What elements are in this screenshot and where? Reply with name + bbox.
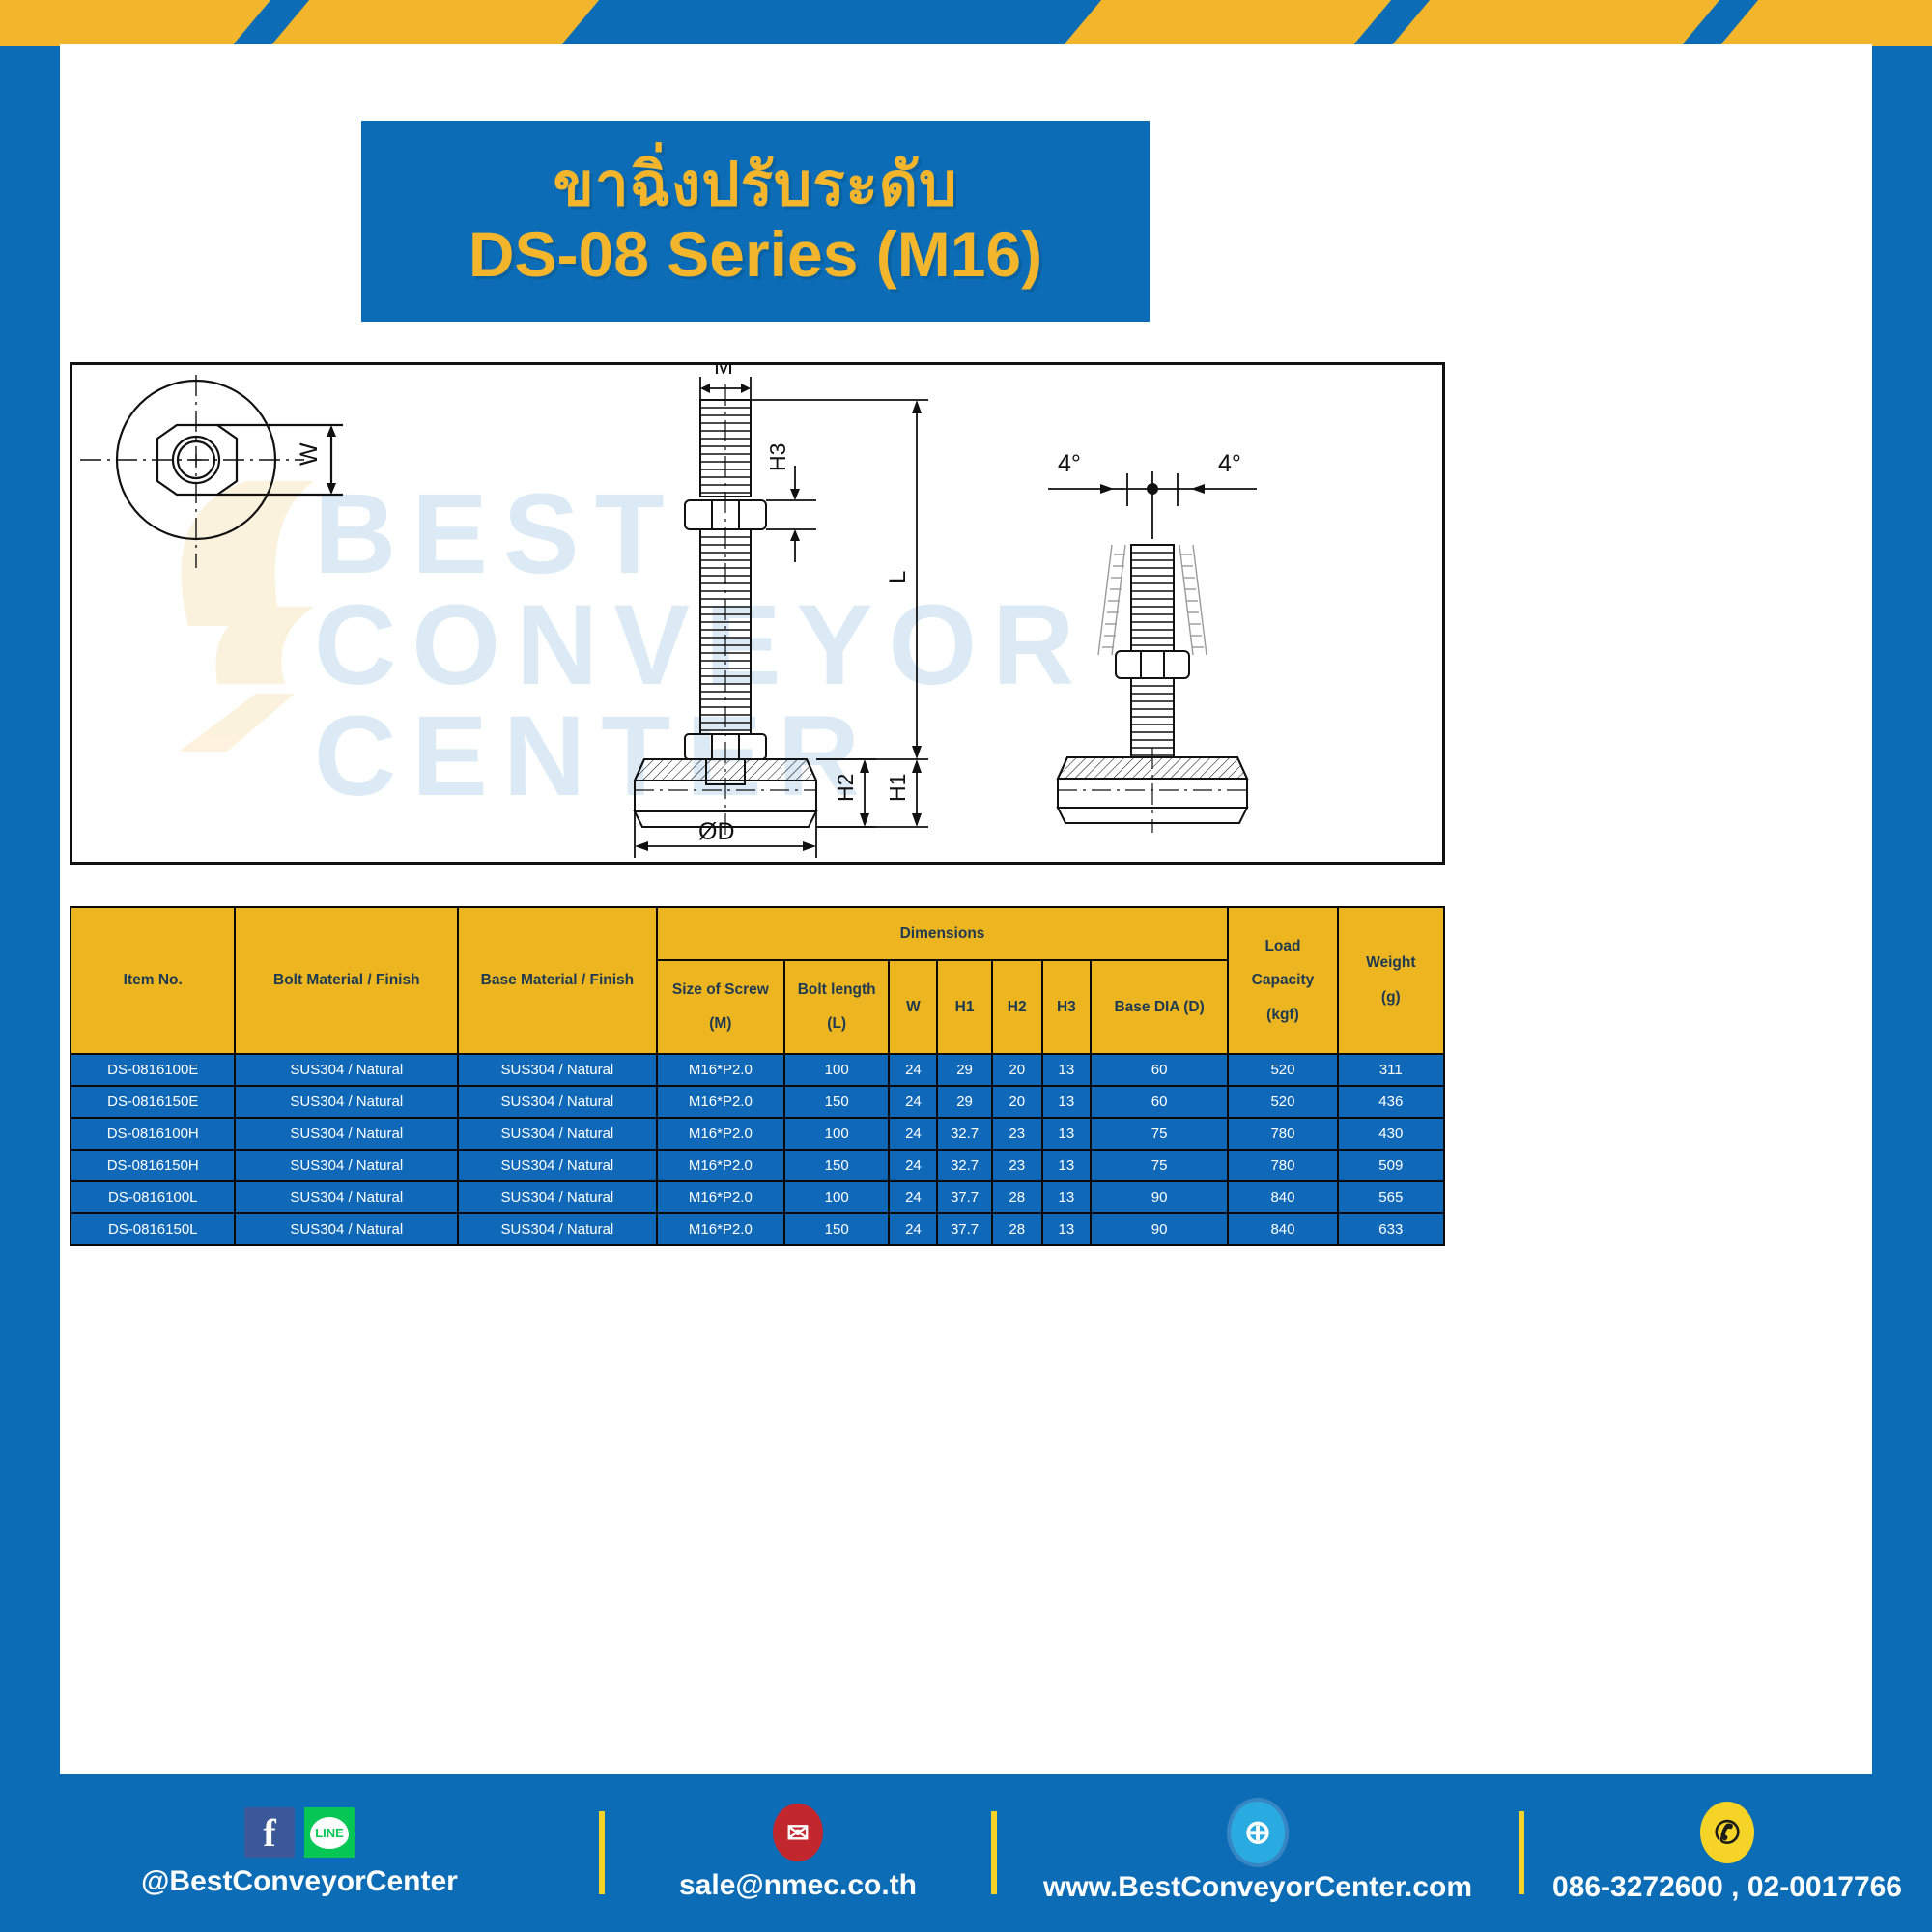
cell-item-no: DS-0816150H bbox=[71, 1150, 235, 1181]
table-row: DS-0816100HSUS304 / NaturalSUS304 / Natu… bbox=[71, 1118, 1444, 1150]
cell-base-dia: 75 bbox=[1091, 1150, 1228, 1181]
website-text: www.BestConveyorCenter.com bbox=[1043, 1871, 1472, 1904]
footer-website[interactable]: ⊕ www.BestConveyorCenter.com bbox=[997, 1802, 1519, 1904]
cell-h3: 13 bbox=[1042, 1086, 1091, 1118]
col-size-of-screw: Size of Screw (M) bbox=[657, 960, 784, 1054]
table-row: DS-0816150ESUS304 / NaturalSUS304 / Natu… bbox=[71, 1086, 1444, 1118]
facebook-icon[interactable]: f bbox=[244, 1807, 295, 1858]
cell-item-no: DS-0816100L bbox=[71, 1181, 235, 1213]
col-item-no: Item No. bbox=[71, 907, 235, 1054]
specification-table: Item No. Bolt Material / Finish Base Mat… bbox=[70, 906, 1445, 1246]
page-title-block: ขาฉิ่งปรับระดับ DS-08 Series (M16) bbox=[361, 121, 1150, 322]
line-bubble: LINE bbox=[310, 1817, 349, 1849]
col-weight-line2: (g) bbox=[1341, 980, 1441, 1015]
table-body: DS-0816100ESUS304 / NaturalSUS304 / Natu… bbox=[71, 1054, 1444, 1245]
col-weight: Weight (g) bbox=[1338, 907, 1444, 1054]
col-base-dia: Base DIA (D) bbox=[1091, 960, 1228, 1054]
page-title-thai: ขาฉิ่งปรับระดับ bbox=[554, 153, 958, 215]
cell-h3: 13 bbox=[1042, 1181, 1091, 1213]
cell-h3: 13 bbox=[1042, 1213, 1091, 1245]
page-title-english: DS-08 Series (M16) bbox=[469, 219, 1042, 290]
cell-h3: 13 bbox=[1042, 1118, 1091, 1150]
cell-weight: 565 bbox=[1338, 1181, 1444, 1213]
line-icon[interactable]: LINE bbox=[304, 1807, 355, 1858]
cell-size-of-screw: M16*P2.0 bbox=[657, 1181, 784, 1213]
cell-bolt-length: 150 bbox=[784, 1086, 889, 1118]
stripe-5 bbox=[1708, 0, 1932, 46]
phone-text: 086-3272600 , 02-0017766 bbox=[1552, 1871, 1902, 1904]
dim-H3 bbox=[766, 466, 816, 562]
cell-h2: 23 bbox=[992, 1118, 1042, 1150]
cell-bolt-material: SUS304 / Natural bbox=[235, 1150, 458, 1181]
cell-weight: 509 bbox=[1338, 1150, 1444, 1181]
facebook-handle: @BestConveyorCenter bbox=[141, 1865, 458, 1898]
label-H2: H2 bbox=[833, 774, 858, 802]
cell-h1: 32.7 bbox=[937, 1150, 991, 1181]
cell-load-capacity: 840 bbox=[1228, 1181, 1337, 1213]
cell-h1: 32.7 bbox=[937, 1118, 991, 1150]
cell-h2: 28 bbox=[992, 1213, 1042, 1245]
cell-w: 24 bbox=[889, 1054, 937, 1086]
cell-h2: 20 bbox=[992, 1054, 1042, 1086]
stripe-4 bbox=[1379, 0, 1731, 46]
cell-load-capacity: 780 bbox=[1228, 1118, 1337, 1150]
cell-bolt-material: SUS304 / Natural bbox=[235, 1213, 458, 1245]
technical-drawing-frame: BEST CONVEYOR CENTER W bbox=[70, 362, 1445, 865]
label-tilt-left: 4° bbox=[1058, 450, 1081, 477]
cell-base-dia: 90 bbox=[1091, 1181, 1228, 1213]
cell-load-capacity: 840 bbox=[1228, 1213, 1337, 1245]
cell-h3: 13 bbox=[1042, 1150, 1091, 1181]
cell-base-dia: 60 bbox=[1091, 1054, 1228, 1086]
cell-weight: 436 bbox=[1338, 1086, 1444, 1118]
cell-weight: 633 bbox=[1338, 1213, 1444, 1245]
footer-social[interactable]: f LINE @BestConveyorCenter bbox=[0, 1807, 599, 1898]
cell-size-of-screw: M16*P2.0 bbox=[657, 1118, 784, 1150]
cell-base-material: SUS304 / Natural bbox=[458, 1086, 657, 1118]
stripe-2 bbox=[259, 0, 611, 46]
cell-load-capacity: 520 bbox=[1228, 1054, 1337, 1086]
cell-bolt-material: SUS304 / Natural bbox=[235, 1118, 458, 1150]
table-row: DS-0816100ESUS304 / NaturalSUS304 / Natu… bbox=[71, 1054, 1444, 1086]
col-load-line2: Capacity bbox=[1231, 963, 1334, 998]
cell-base-dia: 90 bbox=[1091, 1213, 1228, 1245]
cell-base-material: SUS304 / Natural bbox=[458, 1181, 657, 1213]
label-OD: ØD bbox=[698, 818, 735, 845]
cell-h1: 37.7 bbox=[937, 1181, 991, 1213]
col-load-line3: (kgf) bbox=[1231, 998, 1334, 1033]
cell-bolt-length: 100 bbox=[784, 1118, 889, 1150]
cell-w: 24 bbox=[889, 1118, 937, 1150]
cell-weight: 430 bbox=[1338, 1118, 1444, 1150]
leveling-foot-drawing: BEST CONVEYOR CENTER W bbox=[72, 365, 1442, 862]
cell-item-no: DS-0816150E bbox=[71, 1086, 235, 1118]
col-h1: H1 bbox=[937, 960, 991, 1054]
col-bolt-material: Bolt Material / Finish bbox=[235, 907, 458, 1054]
cell-bolt-length: 150 bbox=[784, 1213, 889, 1245]
col-load-line1: Load bbox=[1231, 929, 1334, 964]
phone-icon[interactable]: ✆ bbox=[1700, 1802, 1754, 1863]
label-L: L bbox=[885, 571, 911, 583]
col-h3: H3 bbox=[1042, 960, 1091, 1054]
contact-footer: f LINE @BestConveyorCenter ✉ sale@nmec.c… bbox=[0, 1774, 1932, 1932]
cell-base-material: SUS304 / Natural bbox=[458, 1213, 657, 1245]
cell-base-material: SUS304 / Natural bbox=[458, 1118, 657, 1150]
svg-text:BEST: BEST bbox=[314, 470, 680, 598]
cell-bolt-length: 100 bbox=[784, 1054, 889, 1086]
col-group-dimensions: Dimensions bbox=[657, 907, 1229, 960]
col-size-line2: (M) bbox=[660, 1007, 781, 1041]
cell-bolt-length: 150 bbox=[784, 1150, 889, 1181]
label-H3: H3 bbox=[765, 443, 790, 471]
col-weight-line1: Weight bbox=[1341, 946, 1441, 980]
col-bolt-length: Bolt length (L) bbox=[784, 960, 889, 1054]
cell-item-no: DS-0816100E bbox=[71, 1054, 235, 1086]
table-row: DS-0816150HSUS304 / NaturalSUS304 / Natu… bbox=[71, 1150, 1444, 1181]
svg-text:CENTER: CENTER bbox=[314, 693, 875, 820]
cell-base-material: SUS304 / Natural bbox=[458, 1150, 657, 1181]
globe-icon-wrap: ⊕ bbox=[1231, 1802, 1285, 1863]
cell-base-material: SUS304 / Natural bbox=[458, 1054, 657, 1086]
col-bolt-length-line1: Bolt length bbox=[787, 973, 886, 1008]
label-M: M bbox=[714, 365, 733, 380]
col-size-line1: Size of Screw bbox=[660, 973, 781, 1008]
cell-bolt-material: SUS304 / Natural bbox=[235, 1086, 458, 1118]
footer-phone[interactable]: ✆ 086-3272600 , 02-0017766 bbox=[1524, 1802, 1930, 1904]
col-bolt-length-line2: (L) bbox=[787, 1007, 886, 1041]
stripe-3 bbox=[1051, 0, 1403, 46]
label-tilt-right: 4° bbox=[1218, 450, 1241, 477]
table-head: Item No. Bolt Material / Finish Base Mat… bbox=[71, 907, 1444, 1054]
col-w: W bbox=[889, 960, 937, 1054]
cell-bolt-material: SUS304 / Natural bbox=[235, 1054, 458, 1086]
cell-h2: 23 bbox=[992, 1150, 1042, 1181]
social-icons: f LINE bbox=[244, 1807, 355, 1858]
cell-w: 24 bbox=[889, 1181, 937, 1213]
email-icon[interactable]: ✉ bbox=[773, 1804, 823, 1861]
cell-item-no: DS-0816150L bbox=[71, 1213, 235, 1245]
cell-size-of-screw: M16*P2.0 bbox=[657, 1086, 784, 1118]
cell-base-dia: 75 bbox=[1091, 1118, 1228, 1150]
table-header-row-1: Item No. Bolt Material / Finish Base Mat… bbox=[71, 907, 1444, 960]
top-stripe-band bbox=[0, 0, 1932, 46]
stripe-1 bbox=[0, 0, 282, 46]
globe-icon[interactable]: ⊕ bbox=[1231, 1802, 1285, 1863]
cell-size-of-screw: M16*P2.0 bbox=[657, 1054, 784, 1086]
cell-h1: 29 bbox=[937, 1054, 991, 1086]
cell-w: 24 bbox=[889, 1150, 937, 1181]
cell-size-of-screw: M16*P2.0 bbox=[657, 1150, 784, 1181]
cell-h3: 13 bbox=[1042, 1054, 1091, 1086]
cell-h2: 28 bbox=[992, 1181, 1042, 1213]
cell-load-capacity: 520 bbox=[1228, 1086, 1337, 1118]
cell-item-no: DS-0816100H bbox=[71, 1118, 235, 1150]
cell-bolt-length: 100 bbox=[784, 1181, 889, 1213]
phone-icon-wrap: ✆ bbox=[1700, 1802, 1754, 1863]
cell-bolt-material: SUS304 / Natural bbox=[235, 1181, 458, 1213]
cell-load-capacity: 780 bbox=[1228, 1150, 1337, 1181]
footer-email[interactable]: ✉ sale@nmec.co.th bbox=[605, 1804, 991, 1902]
watermark: BEST CONVEYOR CENTER bbox=[179, 470, 1090, 820]
cell-h1: 37.7 bbox=[937, 1213, 991, 1245]
cell-weight: 311 bbox=[1338, 1054, 1444, 1086]
email-icon-wrap: ✉ bbox=[773, 1804, 823, 1861]
col-load-capacity: Load Capacity (kgf) bbox=[1228, 907, 1337, 1054]
cell-w: 24 bbox=[889, 1086, 937, 1118]
col-base-material: Base Material / Finish bbox=[458, 907, 657, 1054]
label-W-plan: W bbox=[296, 442, 323, 466]
col-h2: H2 bbox=[992, 960, 1042, 1054]
cell-base-dia: 60 bbox=[1091, 1086, 1228, 1118]
cell-h1: 29 bbox=[937, 1086, 991, 1118]
table-row: DS-0816150LSUS304 / NaturalSUS304 / Natu… bbox=[71, 1213, 1444, 1245]
label-H1: H1 bbox=[885, 774, 910, 802]
table-row: DS-0816100LSUS304 / NaturalSUS304 / Natu… bbox=[71, 1181, 1444, 1213]
cell-h2: 20 bbox=[992, 1086, 1042, 1118]
cell-size-of-screw: M16*P2.0 bbox=[657, 1213, 784, 1245]
cell-w: 24 bbox=[889, 1213, 937, 1245]
email-text: sale@nmec.co.th bbox=[679, 1869, 917, 1902]
